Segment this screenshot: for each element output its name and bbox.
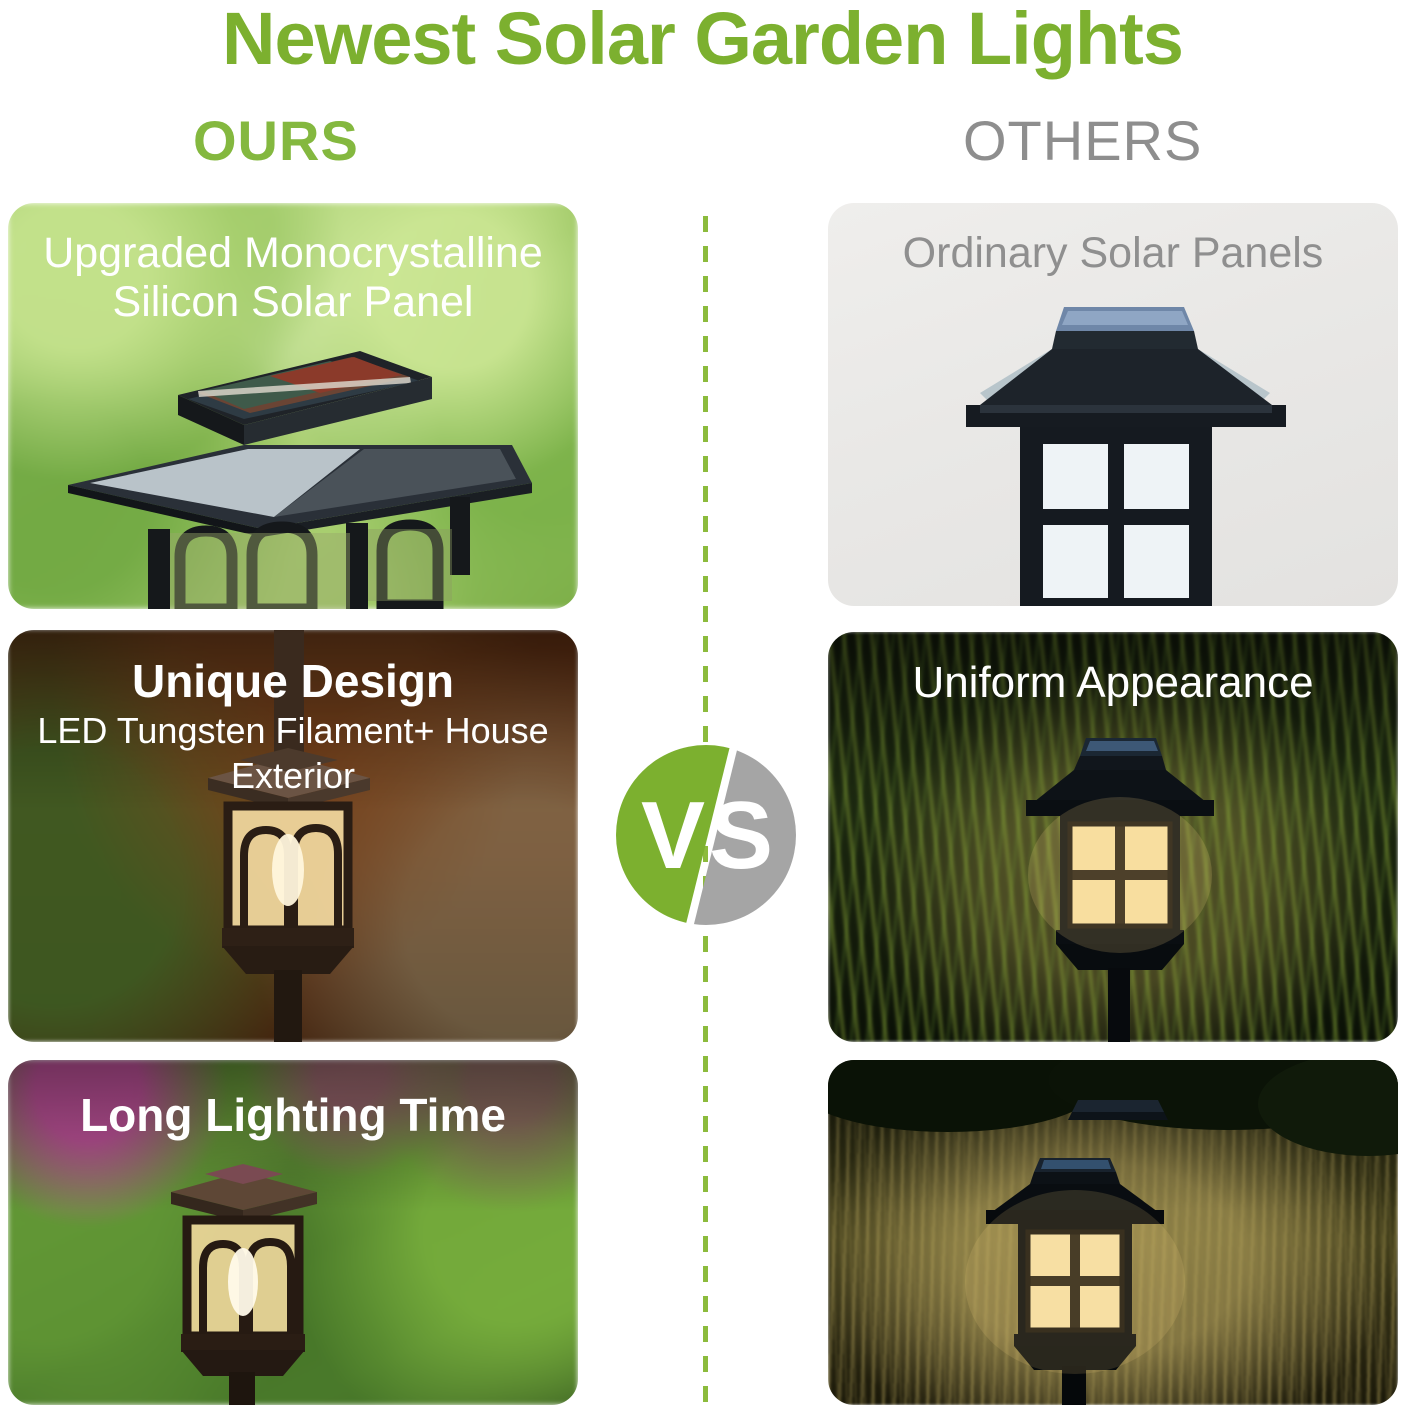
vs-letter-v: V [641, 782, 705, 889]
panel-ours-1-subtitle: Silicon Solar Panel [22, 278, 564, 327]
panel-ours-1-text: Upgraded Monocrystalline Silicon Solar P… [8, 229, 578, 328]
panel-others-ordinary-panel: Ordinary Solar Panels [828, 203, 1398, 606]
column-label-others: OTHERS [963, 113, 1202, 169]
panel-ours-2-text: Unique Design LED Tungsten Filament+ Hou… [8, 654, 578, 798]
column-label-ours: OURS [193, 113, 359, 169]
ordinary-lantern-lit-icon [1016, 732, 1222, 1042]
infographic-root: Newest Solar Garden Lights OURS OTHERS [0, 0, 1405, 1405]
panel-others-uniform-appearance: Uniform Appearance [828, 632, 1398, 1042]
panel-ours-2-title: Unique Design [22, 654, 564, 708]
panel-ours-upgraded-panel: Upgraded Monocrystalline Silicon Solar P… [8, 203, 578, 609]
panel-ours-unique-design: Unique Design LED Tungsten Filament+ Hou… [8, 630, 578, 1042]
ordinary-lantern-icon [936, 301, 1296, 606]
page-title: Newest Solar Garden Lights [0, 2, 1405, 76]
panel-others-lawn-scene [828, 1060, 1398, 1405]
ordinary-lantern-lawn-icon [828, 1060, 1398, 1405]
panel-ours-long-lighting: Long Lighting Time [8, 1060, 578, 1405]
panel-others-2-text: Uniform Appearance [828, 658, 1398, 709]
panel-ours-3-title: Long Lighting Time [22, 1088, 564, 1142]
panel-ours-3-text: Long Lighting Time [8, 1088, 578, 1142]
solar-lantern-lit-icon [113, 1142, 373, 1405]
panel-others-1-text: Ordinary Solar Panels [828, 229, 1398, 278]
panel-others-2-title: Uniform Appearance [842, 658, 1384, 709]
vs-circle-icon: V S [613, 742, 799, 928]
vs-letter-s: S [709, 782, 773, 889]
panel-ours-2-subtitle: LED Tungsten Filament+ House Exterior [22, 708, 564, 798]
panel-others-1-title: Ordinary Solar Panels [842, 229, 1384, 278]
solar-lantern-daylight-icon [30, 333, 560, 609]
panel-ours-1-title: Upgraded Monocrystalline [22, 229, 564, 278]
